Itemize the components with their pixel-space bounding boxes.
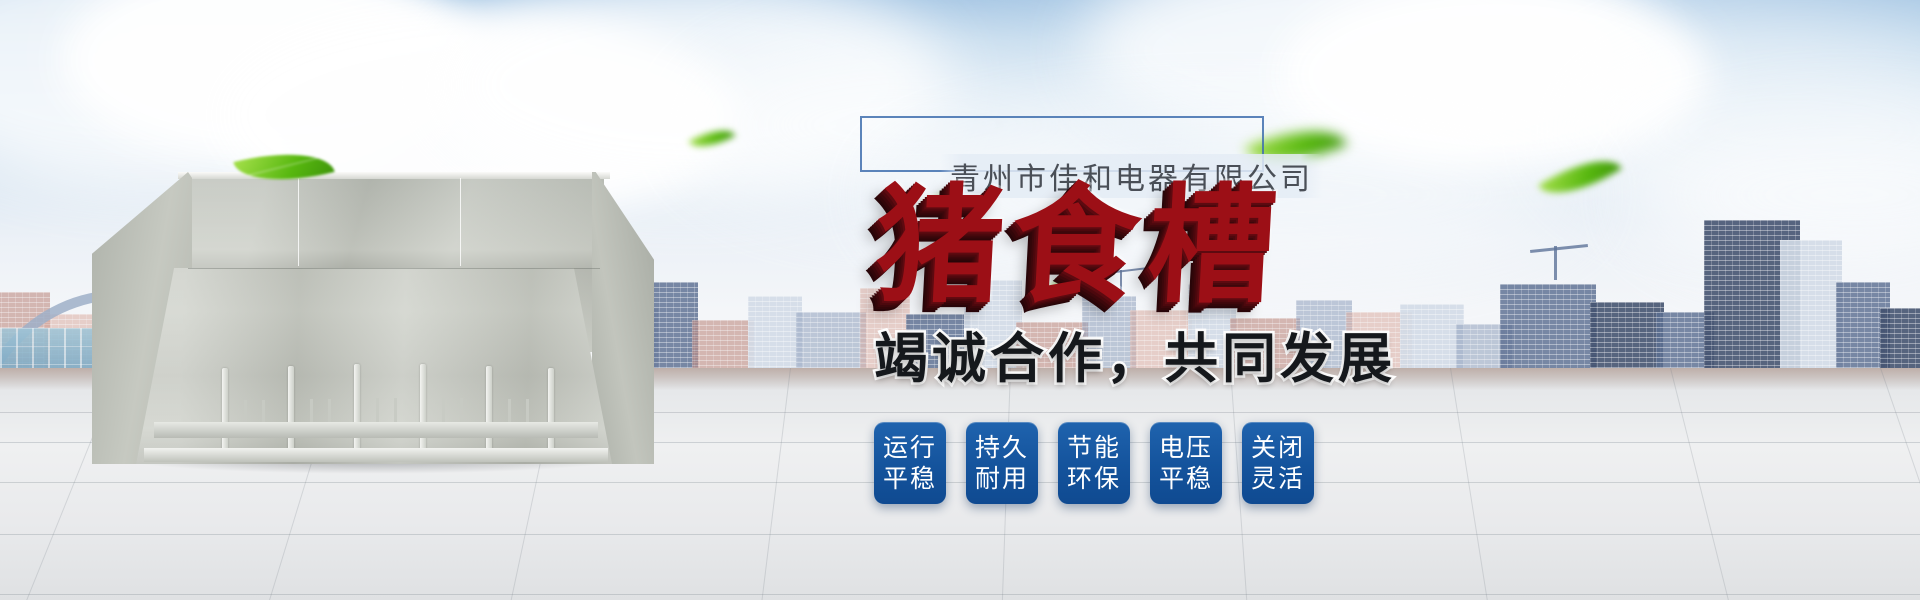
badge-line-1: 节能 <box>1067 433 1121 463</box>
subtitle-slogan: 竭诚合作，共同发展 <box>874 332 1396 386</box>
badge-line-2: 平稳 <box>1159 464 1213 494</box>
feature-badge[interactable]: 运行 平稳 <box>874 422 946 504</box>
feature-badge[interactable]: 持久 耐用 <box>966 422 1038 504</box>
feature-badge[interactable]: 节能 环保 <box>1058 422 1130 504</box>
badge-line-1: 运行 <box>883 433 937 463</box>
headline-copy-block: 青州市佳和电器有限公司 猪食槽 竭诚合作，共同发展 运行 平稳 持久 耐用 节能… <box>860 104 1500 544</box>
badge-line-2: 灵活 <box>1251 464 1305 494</box>
badge-line-1: 持久 <box>975 433 1029 463</box>
badge-line-1: 关闭 <box>1251 433 1305 463</box>
badge-line-2: 环保 <box>1067 464 1121 494</box>
badge-line-2: 耐用 <box>975 464 1029 494</box>
page-title: 猪食槽 <box>873 182 1288 310</box>
feature-badge[interactable]: 电压 平稳 <box>1150 422 1222 504</box>
construction-crane <box>1530 244 1588 253</box>
badge-line-1: 电压 <box>1159 433 1213 463</box>
feature-badge[interactable]: 关闭 灵活 <box>1242 422 1314 504</box>
badge-line-2: 平稳 <box>883 464 937 494</box>
construction-crane <box>1554 246 1557 280</box>
promo-banner: 青州市佳和电器有限公司 猪食槽 竭诚合作，共同发展 运行 平稳 持久 耐用 节能… <box>0 0 1920 600</box>
feature-badge-list: 运行 平稳 持久 耐用 节能 环保 电压 平稳 关闭 灵活 <box>874 422 1314 504</box>
product-image-feeder-trough <box>92 172 652 472</box>
